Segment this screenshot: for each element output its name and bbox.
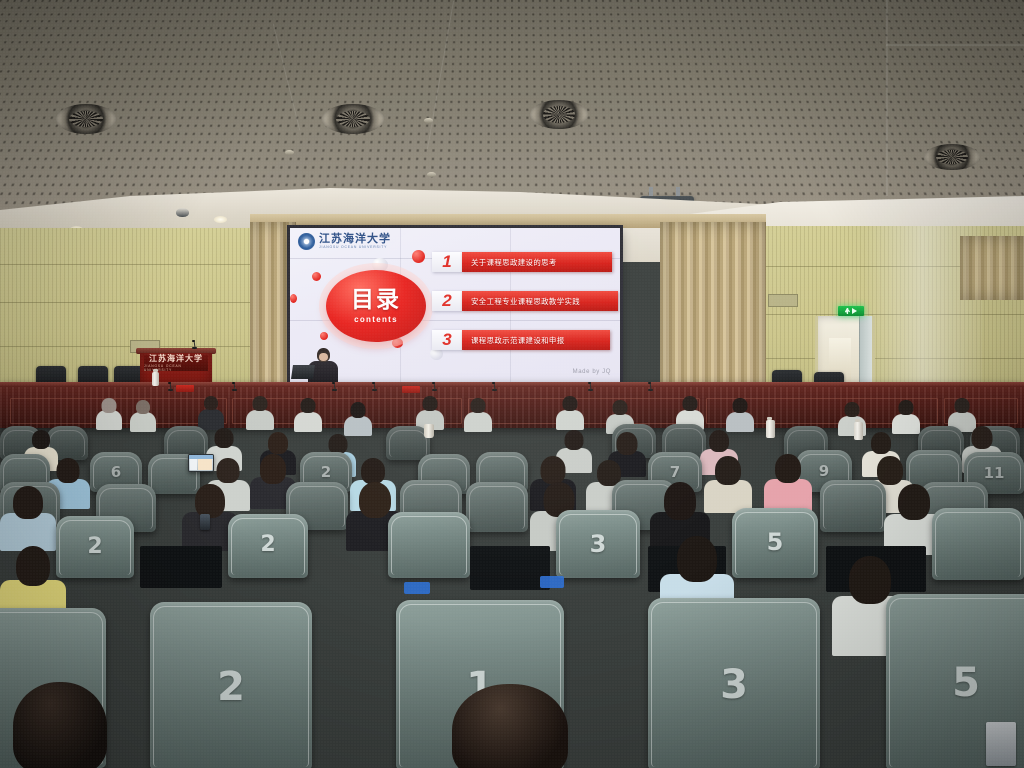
ceiling-air-vent [924, 144, 980, 170]
toc-item-2: 2 安全工程专业课程思政教学实践 [432, 291, 618, 311]
arrow-right-icon [852, 308, 857, 314]
toc-item-3-label: 课程思政示范课建设和申报 [471, 335, 565, 346]
audience-person-foreground [0, 682, 120, 768]
seat-number: 2 [150, 664, 312, 710]
lecture-hall-photo: 江苏海洋大学 JIANGSU OCEAN UNIVERSITY 目录 conte… [0, 0, 1024, 768]
smoke-detector-icon [424, 118, 433, 123]
auditorium-seat: 3 [556, 510, 640, 578]
wall-plaque [768, 294, 798, 307]
stage-spotlight [12, 152, 38, 192]
audience-person [764, 454, 812, 512]
toc-item-2-number: 2 [432, 291, 462, 311]
slide-university-logo: 江苏海洋大学 JIANGSU OCEAN UNIVERSITY [298, 233, 391, 250]
ceiling-air-vent [56, 104, 116, 134]
table-microphone [372, 382, 377, 391]
auditorium-seat: 2 [228, 514, 308, 578]
audience-person [130, 400, 156, 430]
seat-number: 3 [648, 662, 820, 708]
presentation-screen: 江苏海洋大学 JIANGSU OCEAN UNIVERSITY 目录 conte… [290, 228, 620, 382]
podium-name-cn: 江苏海洋大学 [149, 354, 203, 362]
mobile-phone[interactable] [200, 514, 210, 530]
auditorium-seat [466, 482, 528, 532]
stage-spotlight [288, 152, 314, 192]
ceiling-air-vent [530, 100, 588, 129]
auditorium-seat: 2 [150, 602, 312, 768]
audience-person [892, 400, 920, 432]
stage-spotlight [396, 150, 422, 190]
seat-number: 2 [56, 534, 134, 559]
seat-blue-trim [404, 582, 430, 594]
audience-person [726, 398, 754, 430]
audience-person [246, 396, 274, 428]
table-microphone [648, 382, 653, 391]
audience-person [704, 456, 752, 512]
slide-logo-en: JIANGSU OCEAN UNIVERSITY [319, 246, 391, 249]
audience-person [0, 486, 56, 550]
toc-item-1-number: 1 [432, 252, 462, 272]
stage-curtain-far-right [960, 236, 1024, 300]
auditorium-seat [388, 512, 470, 578]
seat-number: 11 [964, 464, 1024, 482]
seat-gap-shadow [470, 546, 550, 590]
presenter-laptop [291, 365, 315, 379]
ceiling-air-vent [322, 104, 384, 134]
decor-dot-red [412, 250, 425, 263]
toc-item-3-number: 3 [432, 330, 462, 350]
seat-blue-trim [540, 576, 564, 588]
audience-seating-area: 6 2 7 9 11 [0, 396, 1024, 768]
auditorium-seat [932, 508, 1024, 580]
table-microphone [332, 382, 337, 391]
auditorium-seat: 2 [56, 516, 134, 578]
audience-person [556, 396, 584, 428]
audience-person [464, 398, 492, 430]
auditorium-seat: 5 [732, 508, 818, 578]
slide-logo-cn: 江苏海洋大学 [319, 233, 391, 244]
ceiling [0, 0, 1024, 215]
stage-spotlight [90, 152, 116, 192]
audience-person [198, 396, 224, 428]
toc-item-3-bar: 课程思政示范课建设和申报 [462, 330, 610, 350]
ceiling-seam [886, 0, 888, 196]
stage-spotlight [184, 150, 210, 190]
toc-title-en: contents [354, 315, 398, 324]
toc-item-3: 3 课程思政示范课建设和申报 [432, 330, 610, 350]
toc-item-2-bar: 安全工程专业课程思政教学实践 [462, 291, 618, 311]
table-microphone [492, 382, 497, 391]
auditorium-seat: 3 [648, 598, 820, 768]
seat-number: 2 [300, 463, 352, 481]
auditorium-seat [820, 480, 886, 532]
decor-dot-red [320, 332, 328, 340]
seat-number: 7 [648, 463, 702, 481]
ceiling-seam [886, 44, 1024, 46]
table-microphone [168, 382, 173, 391]
seat-number: 5 [732, 528, 818, 556]
audience-person [96, 398, 122, 428]
stage-curtain-right [660, 222, 766, 394]
seat-number: 6 [90, 463, 142, 481]
audience-person [344, 402, 372, 434]
audience-laptop [188, 454, 214, 472]
audience-person-foreground [436, 684, 584, 768]
toc-item-1: 1 关于课程思政建设的思考 [432, 252, 612, 272]
podium-microphone [192, 340, 197, 349]
table-red-box [402, 386, 420, 393]
toc-title-cn: 目录 [351, 289, 401, 312]
toc-item-1-label: 关于课程思政建设的思考 [471, 257, 557, 268]
stage-spotlight [700, 163, 726, 203]
toc-item-1-bar: 关于课程思政建设的思考 [462, 252, 612, 272]
toc-badge: 目录 contents [326, 270, 426, 342]
seat-gap-shadow [140, 546, 222, 588]
toc-item-2-label: 安全工程专业课程思政教学实践 [471, 296, 580, 307]
table-red-box [176, 385, 194, 392]
thermos-flask [766, 420, 775, 438]
seat-number: 5 [886, 660, 1024, 706]
exit-sign [838, 306, 864, 316]
seat-number: 2 [228, 532, 308, 557]
running-man-icon [845, 308, 850, 314]
decor-dot-red [290, 294, 297, 303]
stage-spotlight [612, 155, 638, 195]
stage-spotlight [782, 162, 808, 202]
water-cup [424, 424, 434, 438]
audience-person [294, 398, 322, 430]
decor-dot-red [312, 272, 321, 281]
table-microphone [232, 382, 237, 391]
mobile-phone[interactable] [986, 722, 1016, 766]
seat-number: 3 [556, 530, 640, 558]
table-microphone [588, 382, 593, 391]
smoke-detector-icon [427, 172, 436, 177]
table-thermos [152, 372, 159, 386]
slide-credit: Made by JQ [573, 369, 611, 375]
university-emblem-icon [298, 233, 315, 250]
stage-spotlight [500, 152, 526, 192]
recessed-downlight [214, 216, 227, 223]
dome-camera [176, 208, 189, 217]
table-microphone [432, 382, 437, 391]
